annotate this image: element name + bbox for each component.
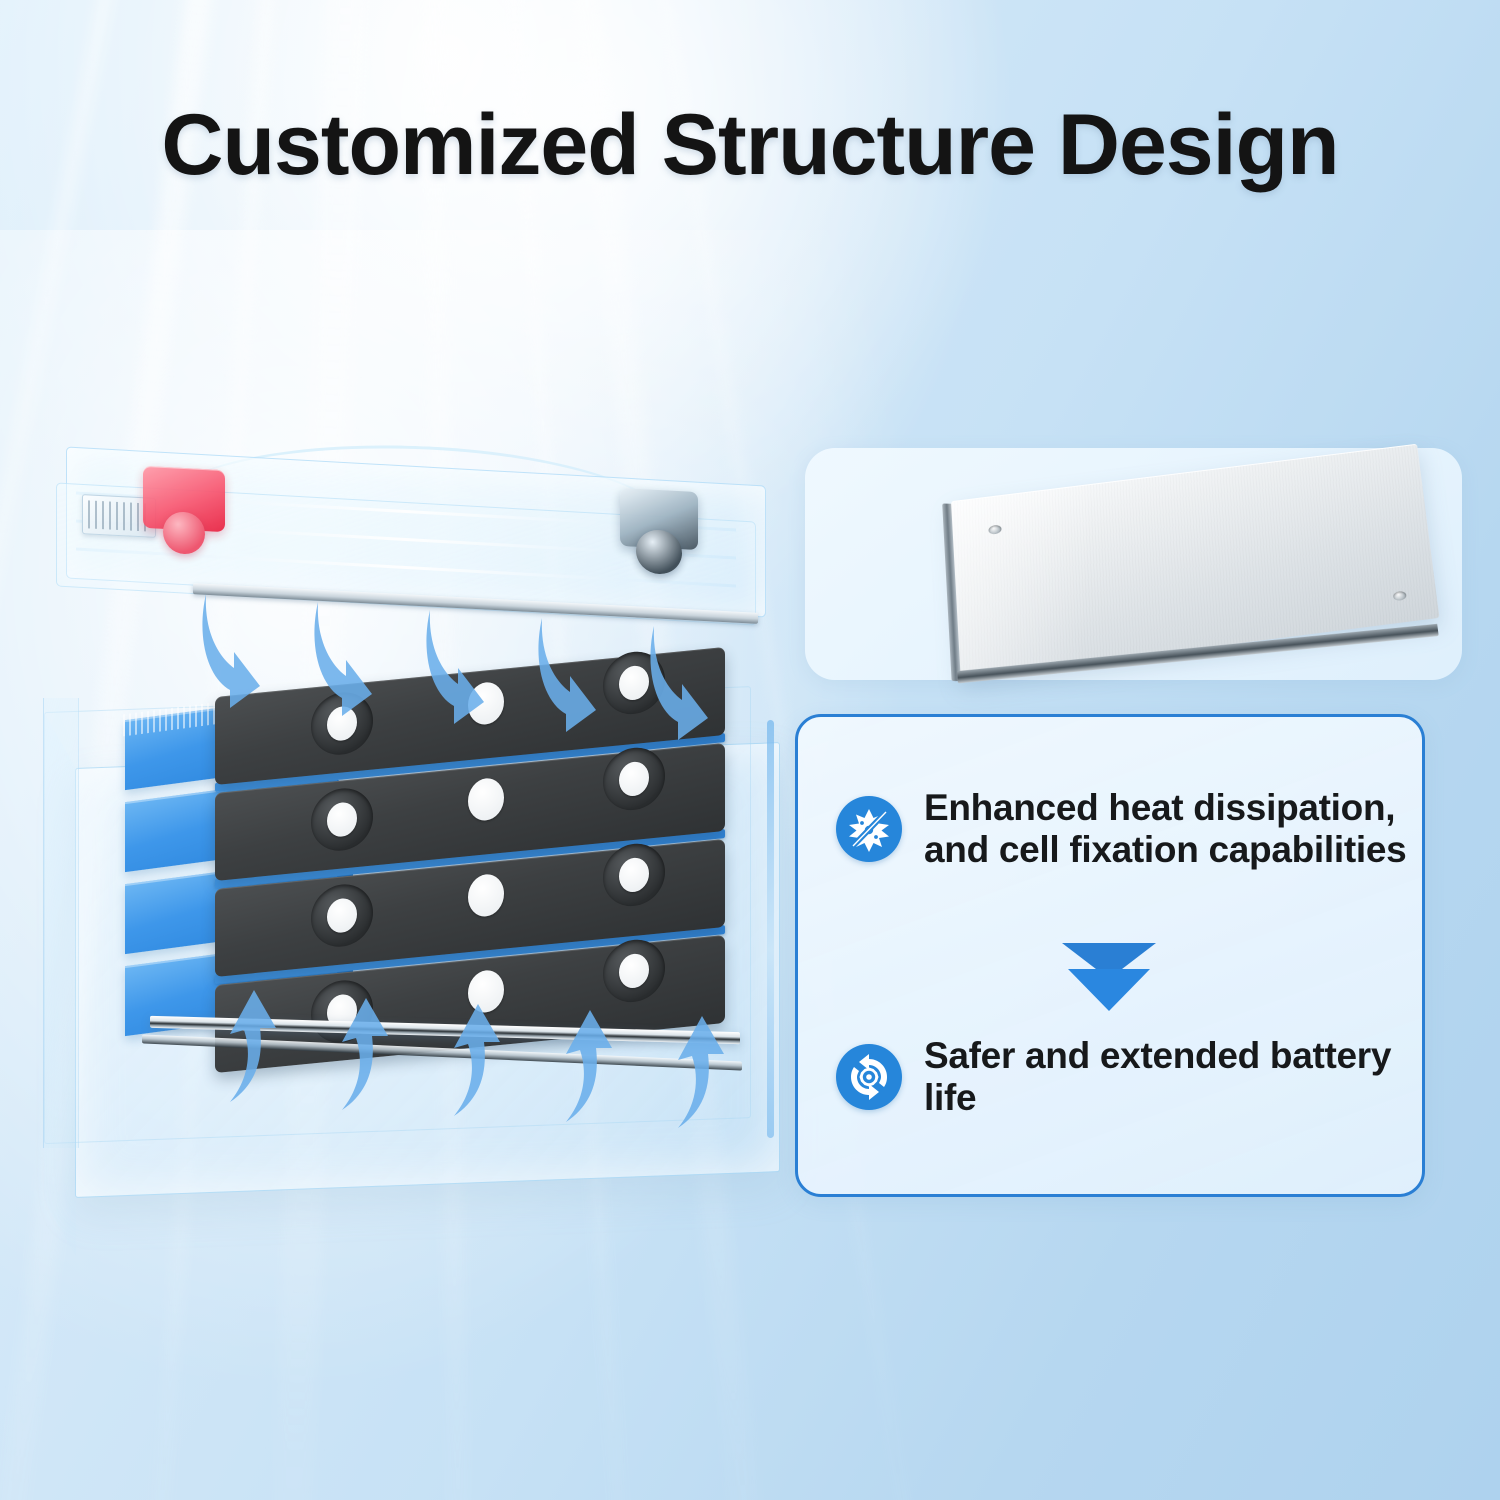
- page-title: Customized Structure Design: [0, 96, 1500, 195]
- feature-item-heat-dissipation: Enhanced heat dissipation, and cell fixa…: [836, 787, 1406, 871]
- airflow-arrow-up: [326, 996, 394, 1112]
- airflow-arrow-up: [662, 1014, 730, 1130]
- gear-cycle-safety-icon: [836, 1044, 902, 1110]
- double-chevron-down-icon: [1054, 939, 1164, 1020]
- feature-label: Safer and extended battery life: [924, 1035, 1422, 1119]
- airflow-arrow-down: [200, 590, 272, 710]
- transparent-top-cover: [38, 440, 798, 645]
- module-terminal: [311, 882, 373, 950]
- module-terminal: [603, 745, 665, 813]
- cooling-plate-card: [805, 448, 1462, 680]
- module-terminal: [603, 841, 665, 909]
- brushed-aluminum-cooling-plate: [951, 444, 1439, 679]
- feature-line-2: and cell fixation capabilities: [924, 829, 1406, 870]
- negative-terminal: [620, 488, 698, 550]
- snowflake-heat-dissipation-icon: [836, 796, 902, 862]
- plate-mounting-hole: [1393, 591, 1407, 602]
- feature-line-1: Enhanced heat dissipation,: [924, 787, 1395, 828]
- airflow-arrow-down: [312, 598, 384, 718]
- airflow-arrow-up: [550, 1008, 618, 1124]
- positive-terminal: [143, 466, 225, 532]
- features-card: Enhanced heat dissipation, and cell fixa…: [795, 714, 1425, 1197]
- plate-mounting-hole: [988, 524, 1001, 534]
- airflow-arrow-up: [214, 988, 282, 1104]
- module-terminal: [603, 937, 665, 1005]
- module-terminal: [455, 861, 517, 929]
- module-terminal: [311, 786, 373, 854]
- exploded-battery-assembly: [30, 420, 820, 1220]
- module-terminal: [455, 765, 517, 833]
- feature-label: Enhanced heat dissipation, and cell fixa…: [924, 787, 1406, 871]
- feature-item-battery-life: Safer and extended battery life: [836, 1035, 1422, 1119]
- plate-face: [951, 444, 1439, 679]
- airflow-arrow-down: [648, 622, 720, 742]
- airflow-arrow-down: [424, 606, 496, 726]
- airflow-arrow-down: [536, 614, 608, 734]
- airflow-arrow-up: [438, 1002, 506, 1118]
- case-right-edge: [767, 720, 774, 1138]
- case-left-depth-face: [43, 698, 79, 1148]
